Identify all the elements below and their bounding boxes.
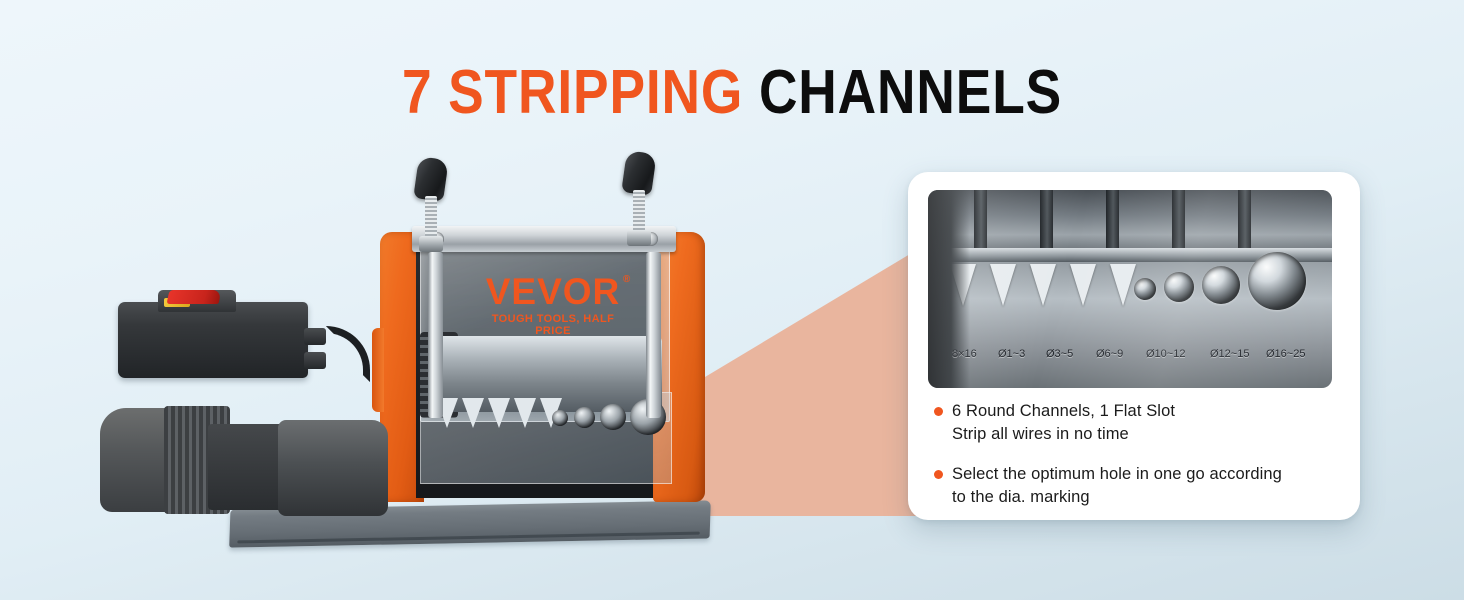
diameter-marking: Ø1~3 [998, 348, 1025, 360]
control-box [118, 302, 308, 378]
photo-channel-tooth [1070, 264, 1096, 306]
channel-hole [600, 404, 626, 430]
diameter-marking: Ø10~12 [1146, 348, 1185, 360]
guide-post-left [428, 252, 443, 418]
power-cable [326, 326, 370, 382]
photo-channel-hole [1248, 252, 1306, 310]
photo-channel-tooth [990, 264, 1016, 306]
photo-divider [1106, 190, 1119, 254]
registered-trademark-icon: ® [623, 275, 631, 285]
photo-channel-tooth [1030, 264, 1056, 306]
cable-gland-lower [304, 352, 326, 369]
channel-hole [552, 410, 568, 426]
feature-bullet-list: 6 Round Channels, 1 Flat Slot Strip all … [930, 400, 1342, 526]
wire-stripping-machine-image: VEVOR® TOUGH TOOLS, HALF PRICE [90, 140, 730, 560]
page-title-highlight: 7 STRIPPING [402, 58, 743, 127]
list-item: 6 Round Channels, 1 Flat Slot Strip all … [930, 400, 1342, 447]
bullet-line: Select the optimum hole in one go accord… [952, 463, 1342, 486]
page-title-rest: CHANNELS [759, 58, 1062, 127]
channel-hole [574, 407, 595, 428]
photo-divider [1172, 190, 1185, 254]
bullet-line: Strip all wires in no time [952, 423, 1342, 446]
bullet-line: to the dia. marking [952, 486, 1342, 509]
photo-divider [1040, 190, 1053, 254]
photo-divider [1238, 190, 1251, 254]
brand-name: VEVOR® [486, 273, 621, 310]
diameter-marking: 8×16 [952, 348, 977, 360]
diameter-marking: Ø6~9 [1096, 348, 1123, 360]
gearbox [278, 420, 388, 516]
guide-post-right [646, 252, 661, 418]
channel-tooth [514, 398, 536, 428]
diameter-marking: Ø12~15 [1210, 348, 1249, 360]
photo-channel-tooth [1110, 264, 1136, 306]
photo-channel-hole [1202, 266, 1240, 304]
knob-nut [627, 230, 651, 246]
brand-tagline: TOUGH TOOLS, HALF PRICE [473, 313, 633, 337]
knob-nut [419, 236, 443, 252]
channel-tooth [488, 398, 510, 428]
photo-upper-band [928, 190, 1332, 254]
diameter-marking: Ø16~25 [1266, 348, 1305, 360]
cable-gland-upper [304, 328, 326, 345]
channels-closeup-photo: 8×16 Ø1~3 Ø3~5 Ø6~9 Ø10~12 Ø12~15 Ø16~25 [928, 190, 1332, 388]
stripping-channels-group [434, 398, 670, 468]
photo-divider [974, 190, 987, 254]
photo-channel-hole [1134, 278, 1156, 300]
feature-callout-card: 8×16 Ø1~3 Ø3~5 Ø6~9 Ø10~12 Ø12~15 Ø16~25… [908, 172, 1360, 520]
page-title: 7 STRIPPING CHANNELS [102, 62, 1361, 124]
diameter-marking: Ø3~5 [1046, 348, 1073, 360]
knob-threaded-stud [633, 190, 645, 234]
diameter-markings-row: 8×16 Ø1~3 Ø3~5 Ø6~9 Ø10~12 Ø12~15 Ø16~25 [928, 340, 1332, 360]
brand-logo: VEVOR® TOUGH TOOLS, HALF PRICE [473, 273, 633, 337]
bullet-dot-icon [934, 407, 943, 416]
promo-banner: 7 STRIPPING CHANNELS [0, 0, 1464, 600]
bullet-dot-icon [934, 470, 943, 479]
channel-tooth [462, 398, 484, 428]
power-switch-red[interactable] [167, 290, 222, 304]
knob-threaded-stud [425, 196, 437, 240]
photo-channel-hole [1164, 272, 1194, 302]
list-item: Select the optimum hole in one go accord… [930, 463, 1342, 510]
bullet-line: 6 Round Channels, 1 Flat Slot [952, 400, 1342, 423]
